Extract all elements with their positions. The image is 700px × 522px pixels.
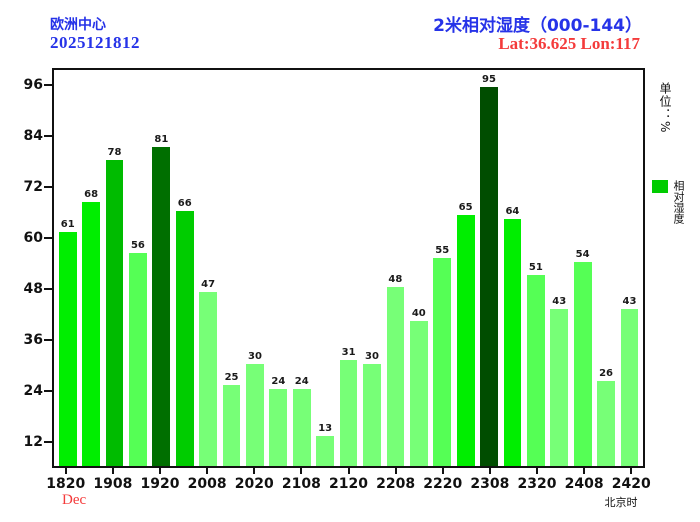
bar-value-label: 31 — [342, 348, 356, 358]
bar[interactable] — [82, 202, 100, 466]
bar[interactable] — [574, 262, 592, 466]
x-axis-tick-label: 2020 — [235, 476, 274, 492]
source-center-label: 欧洲中心 — [50, 14, 106, 34]
bar-item[interactable]: 48 — [384, 70, 407, 466]
x-axis-tick-mark — [536, 468, 538, 474]
bar[interactable] — [129, 253, 147, 466]
bar[interactable] — [480, 87, 498, 466]
y-axis-tick-mark — [44, 390, 52, 392]
bar[interactable] — [597, 381, 615, 466]
bar-item[interactable]: 24 — [290, 70, 313, 466]
x-axis-tick-mark — [442, 468, 444, 474]
bar-item[interactable]: 31 — [337, 70, 360, 466]
x-axis-tick-label: 2408 — [565, 476, 604, 492]
bar[interactable] — [527, 275, 545, 466]
bar-value-label: 24 — [295, 377, 309, 387]
bar-item[interactable]: 65 — [454, 70, 477, 466]
y-axis-tick-mark — [44, 288, 52, 290]
legend-swatch-icon — [652, 180, 668, 193]
bar-item[interactable]: 30 — [243, 70, 266, 466]
y-axis-tick-mark — [44, 84, 52, 86]
x-axis-tick-label: 2220 — [423, 476, 462, 492]
x-axis-tick-label: 2320 — [517, 476, 556, 492]
x-axis-tick-label: 1820 — [46, 476, 85, 492]
x-axis-tick-mark — [300, 468, 302, 474]
y-axis-tick-mark — [44, 339, 52, 341]
x-axis-tick-mark — [65, 468, 67, 474]
bar-item[interactable]: 43 — [618, 70, 641, 466]
bar[interactable] — [340, 360, 358, 466]
bar-value-label: 64 — [505, 207, 519, 217]
bar[interactable] — [59, 232, 77, 466]
bar-value-label: 48 — [388, 275, 402, 285]
bar-item[interactable]: 95 — [477, 70, 500, 466]
bar-value-label: 55 — [435, 246, 449, 256]
x-axis-tick-mark — [112, 468, 114, 474]
x-axis-tick-label: 2120 — [329, 476, 368, 492]
bar-value-label: 95 — [482, 75, 496, 85]
bar[interactable] — [223, 385, 241, 466]
bar[interactable] — [363, 364, 381, 466]
bar[interactable] — [106, 160, 124, 466]
bar-item[interactable]: 66 — [173, 70, 196, 466]
bar[interactable] — [621, 309, 639, 466]
bar[interactable] — [199, 292, 217, 466]
bar-item[interactable]: 64 — [501, 70, 524, 466]
bar[interactable] — [433, 258, 451, 467]
bar-item[interactable]: 24 — [267, 70, 290, 466]
x-axis-tick-label: 2308 — [470, 476, 509, 492]
y-axis-tick-mark — [44, 441, 52, 443]
model-datetime-label: 2025121812 — [50, 33, 140, 53]
y-axis-tick-mark — [44, 237, 52, 239]
bar-value-label: 13 — [318, 424, 332, 434]
chart-title: 2米相对湿度（000-144） — [433, 11, 642, 36]
bar-item[interactable]: 54 — [571, 70, 594, 466]
bar[interactable] — [269, 389, 287, 466]
bar-value-label: 30 — [365, 352, 379, 362]
coordinates-label: Lat:36.625 Lon:117 — [498, 34, 640, 54]
bar-value-label: 54 — [576, 250, 590, 260]
bar[interactable] — [246, 364, 264, 466]
unit-label: 单位：% — [657, 82, 674, 133]
bar-value-label: 26 — [599, 369, 613, 379]
bar-item[interactable]: 55 — [431, 70, 454, 466]
bar-value-label: 43 — [622, 297, 636, 307]
bar-item[interactable]: 40 — [407, 70, 430, 466]
bar[interactable] — [550, 309, 568, 466]
y-axis-tick-mark — [44, 186, 52, 188]
bar-series-container: 6168785681664725302424133130484055659564… — [54, 70, 643, 466]
bar-value-label: 30 — [248, 352, 262, 362]
x-axis-timezone-label: 北京时 — [605, 494, 638, 510]
legend: 相对湿度 — [652, 180, 686, 224]
bar-item[interactable]: 56 — [126, 70, 149, 466]
bar-item[interactable]: 47 — [196, 70, 219, 466]
x-axis-tick-mark — [489, 468, 491, 474]
bar-item[interactable]: 43 — [548, 70, 571, 466]
bar-value-label: 24 — [271, 377, 285, 387]
x-axis-tick-label: 2208 — [376, 476, 415, 492]
bar[interactable] — [387, 287, 405, 466]
y-axis-tick-mark — [44, 135, 52, 137]
bar[interactable] — [410, 321, 428, 466]
legend-label: 相对湿度 — [670, 180, 686, 224]
bar-value-label: 43 — [552, 297, 566, 307]
bar-item[interactable]: 68 — [79, 70, 102, 466]
bar[interactable] — [457, 215, 475, 466]
x-axis-tick-label: 2420 — [612, 476, 651, 492]
bar-item[interactable]: 61 — [56, 70, 79, 466]
x-axis-tick-mark — [159, 468, 161, 474]
bar-value-label: 61 — [61, 220, 75, 230]
x-axis-tick-mark — [395, 468, 397, 474]
x-axis-tick-label: 2108 — [282, 476, 321, 492]
bar-item[interactable]: 13 — [313, 70, 336, 466]
bar[interactable] — [176, 211, 194, 466]
bar-value-label: 68 — [84, 190, 98, 200]
x-axis-tick-mark — [206, 468, 208, 474]
bar-item[interactable]: 81 — [150, 70, 173, 466]
x-axis-tick-mark — [253, 468, 255, 474]
bar-value-label: 56 — [131, 241, 145, 251]
bar-value-label: 25 — [225, 373, 239, 383]
bar-item[interactable]: 26 — [594, 70, 617, 466]
x-axis-tick-mark — [583, 468, 585, 474]
bar[interactable] — [293, 389, 311, 466]
bar[interactable] — [316, 436, 334, 466]
chart-plot-area: 6168785681664725302424133130484055659564… — [52, 68, 645, 468]
bar-value-label: 65 — [459, 203, 473, 213]
bar-item[interactable]: 78 — [103, 70, 126, 466]
x-axis-month-label: Dec — [62, 492, 86, 509]
bar-value-label: 81 — [154, 135, 168, 145]
x-axis-tick-label: 1920 — [141, 476, 180, 492]
bar-value-label: 47 — [201, 280, 215, 290]
x-axis-tick-label: 1908 — [93, 476, 132, 492]
x-axis-tick-label: 2008 — [188, 476, 227, 492]
bar-value-label: 78 — [108, 148, 122, 158]
bar[interactable] — [152, 147, 170, 466]
bar-item[interactable]: 25 — [220, 70, 243, 466]
x-axis-tick-mark — [348, 468, 350, 474]
bar-item[interactable]: 30 — [360, 70, 383, 466]
bar-item[interactable]: 51 — [524, 70, 547, 466]
bar[interactable] — [504, 219, 522, 466]
bar-value-label: 40 — [412, 309, 426, 319]
bar-value-label: 66 — [178, 199, 192, 209]
x-axis-tick-mark — [630, 468, 632, 474]
bar-value-label: 51 — [529, 263, 543, 273]
